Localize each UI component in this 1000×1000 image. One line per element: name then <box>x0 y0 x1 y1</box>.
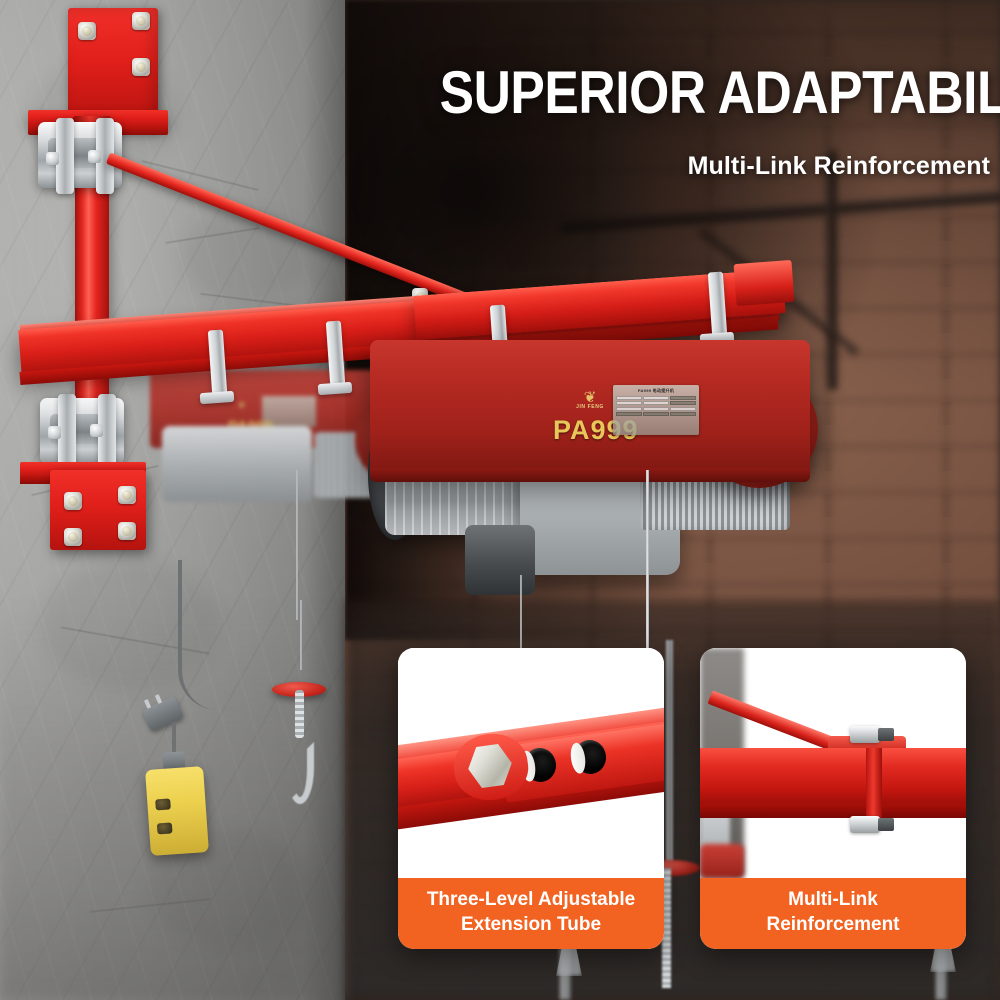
pendant-control[interactable] <box>145 766 209 856</box>
caption-line-1: Three-Level Adjustable <box>406 887 656 912</box>
multilink-top-bolt <box>850 726 880 743</box>
caption-line-2: Extension Tube <box>406 912 656 937</box>
clamp-bolt <box>88 150 101 163</box>
wall-plate-bolt <box>132 58 150 76</box>
page-title: SUPERIOR ADAPTABILITY <box>440 62 990 124</box>
spec-plate-row <box>616 396 696 400</box>
background-hoist-brand-icon: ❦ <box>238 400 246 411</box>
inset-panel-multi-link[interactable]: Multi-Link Reinforcement <box>700 648 966 949</box>
spec-cell <box>670 407 696 411</box>
multilink-joint-web <box>866 748 882 818</box>
brand-name-label: JIN FENG <box>576 404 604 410</box>
spec-cell <box>643 396 669 400</box>
wall-plate-bolt <box>78 22 96 40</box>
spec-cell <box>643 401 669 405</box>
hoist-junction-box <box>465 525 535 595</box>
inset-background-red-part <box>700 844 744 878</box>
background-lift-cable <box>300 600 302 670</box>
lower-bracket-bolt <box>118 486 136 504</box>
inset-gap-rod <box>666 640 673 870</box>
spec-cell <box>616 401 642 405</box>
caption-extension-tube: Three-Level Adjustable Extension Tube <box>398 878 664 949</box>
spec-cell <box>643 407 669 411</box>
lower-bracket-bolt <box>64 528 82 546</box>
brand-emblem-icon: ❦ <box>584 392 597 404</box>
inset-photo-backdrop <box>398 648 664 710</box>
inset-photo-multi-link <box>700 648 966 878</box>
caption-line-2: Reinforcement <box>708 912 958 937</box>
multilink-bottom-nut <box>878 818 894 831</box>
clamp-bolt <box>48 426 61 439</box>
background-hoist-motor <box>162 426 312 502</box>
multilink-main-beam <box>700 748 966 806</box>
spec-plate-row <box>616 401 696 405</box>
lower-bracket-bolt <box>64 492 82 510</box>
beam-strap-foot <box>200 391 235 404</box>
lifting-cable <box>646 470 649 670</box>
hook-shank <box>295 690 304 738</box>
spec-plate-row <box>616 412 696 416</box>
pendant-down-button[interactable] <box>157 822 173 834</box>
lower-bracket-bolt <box>118 522 136 540</box>
spec-cell <box>670 412 696 416</box>
wall-plate-bolt <box>132 12 150 30</box>
background-lift-cable <box>296 470 298 620</box>
multilink-bottom-bolt <box>850 816 880 833</box>
spec-cell <box>616 407 642 411</box>
spec-cell <box>616 412 642 416</box>
spec-cell <box>643 412 669 416</box>
clamp-bolt <box>46 152 59 165</box>
beam-end-cap <box>734 260 795 306</box>
caption-line-1: Multi-Link <box>708 887 958 912</box>
multilink-beam-flange <box>700 804 966 818</box>
clamp-bolt <box>90 424 103 437</box>
page-subtitle: Multi-Link Reinforcement <box>350 152 990 181</box>
beam-strap-foot <box>318 382 353 395</box>
spec-plate-title: PA999 电动提升机 <box>616 388 696 394</box>
multilink-top-nut <box>878 728 894 741</box>
spec-cell <box>670 401 696 405</box>
inset-photo-extension-tube <box>398 648 664 878</box>
hoist-cover-lip <box>370 468 810 482</box>
spec-plate-row <box>616 407 696 411</box>
power-cord <box>178 560 238 710</box>
product-marketing-image: SUPERIOR ADAPTABILITY Multi-Link Reinfor… <box>0 0 1000 1000</box>
spec-cell <box>670 396 696 400</box>
inset-panel-extension-tube[interactable]: Three-Level Adjustable Extension Tube <box>398 648 664 949</box>
caption-multi-link: Multi-Link Reinforcement <box>700 878 966 949</box>
spec-cell <box>616 396 642 400</box>
product-spec-plate: PA999 电动提升机 <box>613 385 699 435</box>
brand-logo: ❦ JIN FENG <box>570 388 610 414</box>
pendant-up-button[interactable] <box>155 798 171 810</box>
